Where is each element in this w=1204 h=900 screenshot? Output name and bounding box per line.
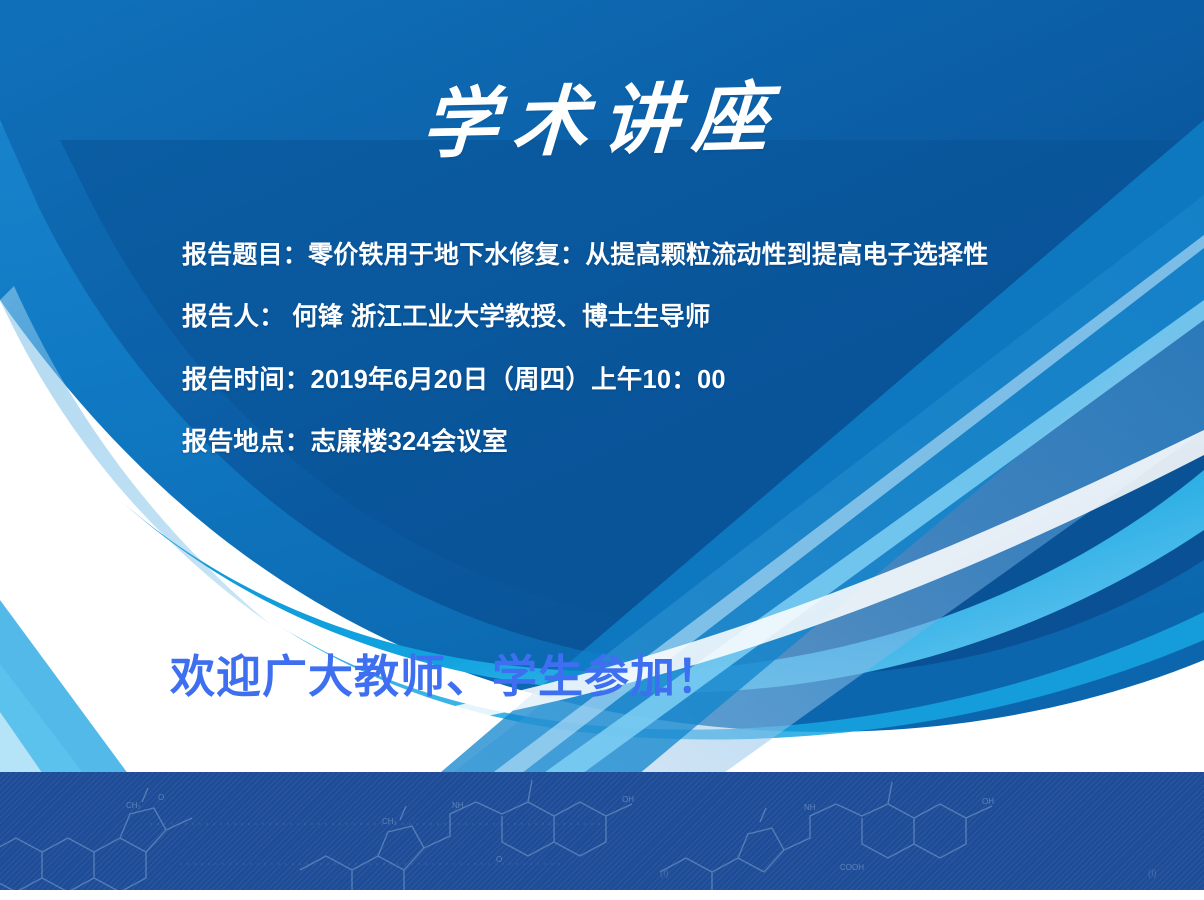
molecule-outline-svg: CH₃ O COOH CH₃ NH: [0, 772, 1204, 890]
seminar-poster: 学术讲座 报告题目：零价铁用于地下水修复：从提高颗粒流动性到提高电子选择性 报告…: [0, 0, 1204, 900]
svg-text:CH₃: CH₃: [126, 801, 141, 810]
svg-text:OH: OH: [622, 795, 634, 804]
svg-text:(I): (I): [1148, 868, 1157, 878]
info-line-speaker: 报告人： 何锋 浙江工业大学教授、博士生导师: [182, 305, 1172, 331]
svg-text:NH: NH: [804, 803, 816, 812]
svg-text:NH: NH: [452, 801, 464, 810]
svg-text:OH: OH: [982, 797, 994, 806]
svg-text:O: O: [158, 793, 164, 802]
welcome-message: 欢迎广大教师、学生参加！: [170, 654, 722, 699]
seminar-info-block: 报告题目：零价铁用于地下水修复：从提高颗粒流动性到提高电子选择性 报告人： 何锋…: [182, 243, 1172, 456]
svg-text:COOH: COOH: [840, 863, 864, 872]
svg-text:(I): (I): [660, 868, 669, 878]
banner-bottom-edge: [0, 890, 1204, 900]
info-line-time: 报告时间：2019年6月20日（周四）上午10：00: [182, 368, 1172, 394]
svg-text:O: O: [496, 855, 502, 864]
chemistry-footer-banner: CH₃ O COOH CH₃ NH: [0, 772, 1204, 890]
info-line-venue: 报告地点：志廉楼324会议室: [182, 430, 1172, 456]
info-line-topic: 报告题目：零价铁用于地下水修复：从提高颗粒流动性到提高电子选择性: [182, 243, 1172, 268]
